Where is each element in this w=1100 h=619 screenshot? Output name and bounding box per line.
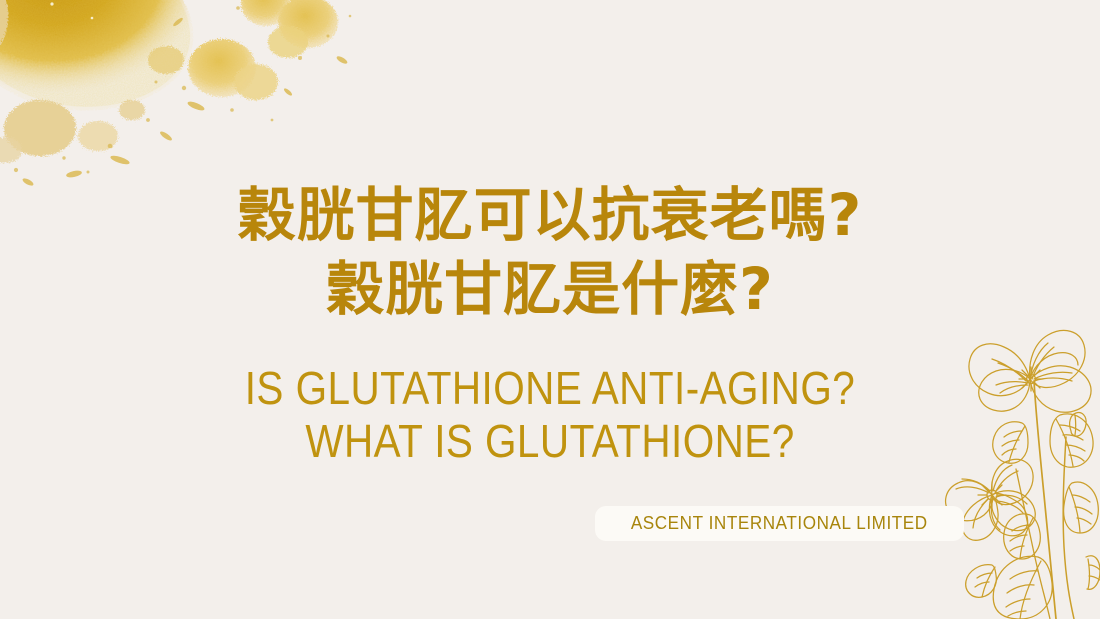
headline-line-1: 穀胱甘肊可以抗衰老嗎? (0, 178, 1100, 252)
subheading: IS GLUTATHIONE ANTI-AGING? WHAT IS GLUTA… (0, 362, 1100, 468)
headline-line-2: 穀胱甘肊是什麼? (0, 252, 1100, 326)
headline: 穀胱甘肊可以抗衰老嗎? 穀胱甘肊是什麼? (0, 178, 1100, 326)
subheading-line-2: WHAT IS GLUTATHIONE? (66, 415, 1034, 468)
brand-badge: ASCENT INTERNATIONAL LIMITED (595, 506, 964, 541)
brand-badge-label: ASCENT INTERNATIONAL LIMITED (631, 513, 928, 534)
subheading-line-1: IS GLUTATHIONE ANTI-AGING? (66, 362, 1034, 415)
banner-canvas: 穀胱甘肊可以抗衰老嗎? 穀胱甘肊是什麼? IS GLUTATHIONE ANTI… (0, 0, 1100, 619)
